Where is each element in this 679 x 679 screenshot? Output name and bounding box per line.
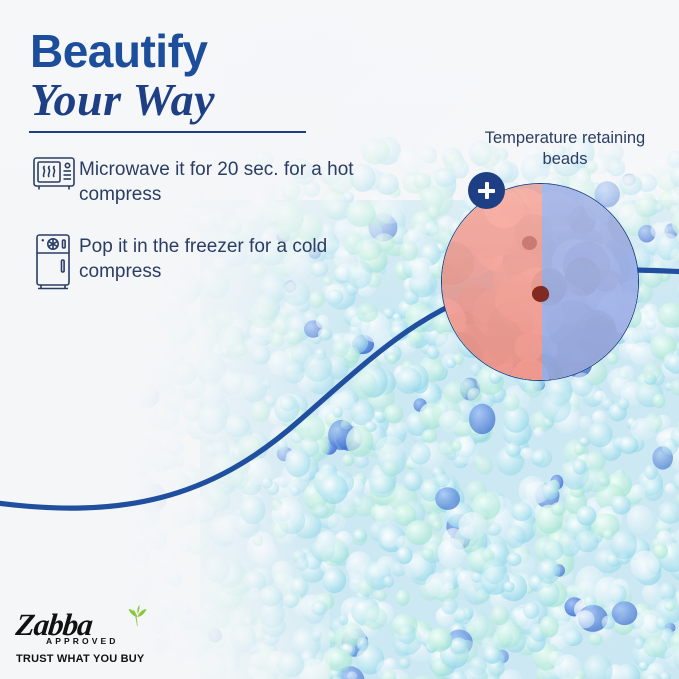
bead-magnifier <box>441 183 639 381</box>
warm-half-overlay <box>441 183 542 381</box>
microwave-icon <box>29 156 79 192</box>
plus-icon-horizontal <box>478 189 495 193</box>
feature-item-freezer: Pop it in the freezer for a cold compres… <box>29 233 359 291</box>
product-infographic: Beautify Your Way <box>0 0 679 679</box>
logo-tagline: TRUST WHAT YOU BUY <box>16 653 166 665</box>
freezer-icon <box>29 233 79 291</box>
headline: Beautify Your Way <box>30 26 360 126</box>
headline-line-2: Your Way <box>30 74 360 126</box>
accent-bead-light <box>522 236 537 250</box>
feature-list: Microwave it for 20 sec. for a hot compr… <box>29 156 359 317</box>
callout-label: Temperature retaining beads <box>470 128 660 170</box>
cool-half-overlay <box>542 183 639 381</box>
headline-line-1: Beautify <box>30 26 360 76</box>
headline-divider <box>29 131 306 133</box>
plus-badge[interactable] <box>468 172 505 209</box>
leaf-icon <box>124 605 150 627</box>
feature-item-microwave: Microwave it for 20 sec. for a hot compr… <box>29 156 359 207</box>
feature-text: Pop it in the freezer for a cold compres… <box>79 233 359 284</box>
brand-logo: Zabba APPROVED TRUST WHAT YOU BUY <box>16 608 166 665</box>
feature-text: Microwave it for 20 sec. for a hot compr… <box>79 156 359 207</box>
